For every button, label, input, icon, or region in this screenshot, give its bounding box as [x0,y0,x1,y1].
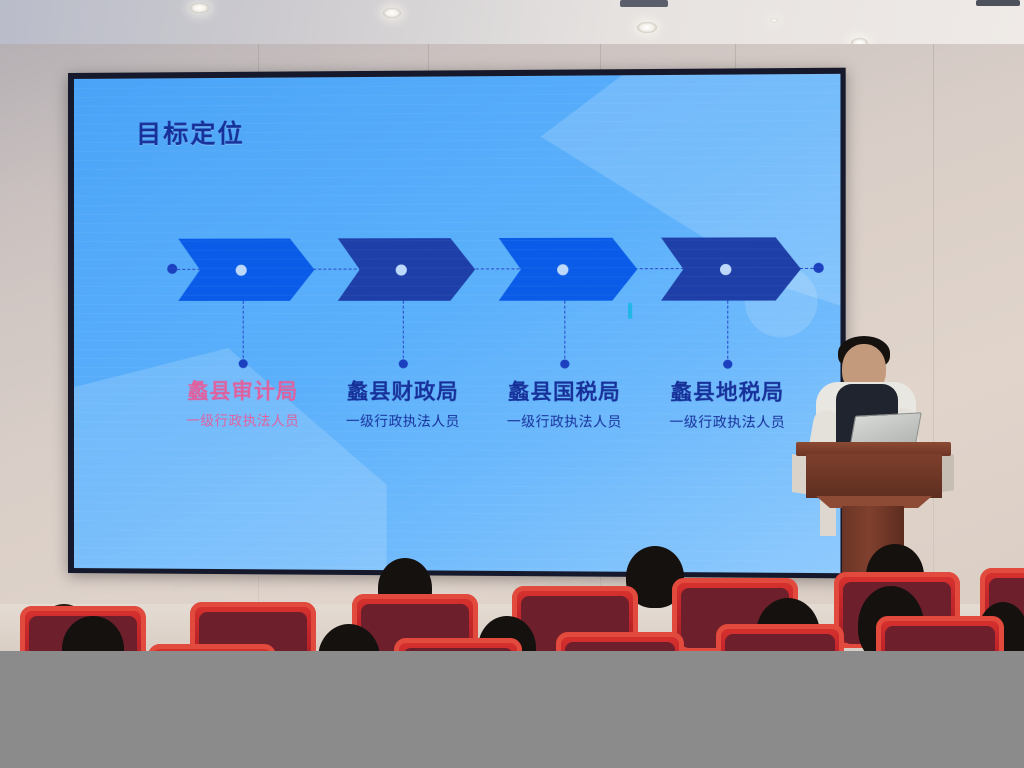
chevron-hole [557,264,568,275]
slide-title: 目标定位 [136,114,245,151]
timeline-dropline [564,301,565,364]
timeline-dropline [727,301,728,364]
timeline-drop-dot [239,359,248,368]
timeline-drop-dot [723,360,732,369]
timeline-drop-dot [399,359,408,368]
timeline-caption: 蠡县财政局 一级行政执法人员 [317,375,490,430]
timeline-sub-3: 一级行政执法人员 [477,410,652,431]
downlight-icon [770,18,778,23]
led-screen-bezel: 目标定位 蠡县审计局 一级行政执法人员 [68,68,846,579]
chevron-hole [235,264,246,275]
timeline-end-dot [813,263,823,273]
downlight-icon [637,22,657,33]
downlight-icon [190,3,209,13]
timeline-org-3: 蠡县国税局 [477,376,652,407]
bottom-gray-band [0,651,1024,768]
timeline-caption: 蠡县国税局 一级行政执法人员 [477,376,652,431]
timeline-tick-icon [628,303,632,319]
timeline-org-1: 蠡县审计局 [157,375,329,405]
ceiling-vent-icon [620,0,668,7]
timeline-dropline [403,301,404,364]
timeline-group: 蠡县审计局 一级行政执法人员 蠡县财政局 一级行政执法人员 [74,237,840,543]
ceiling-sensor-icon [976,0,1020,6]
chevron-hole [720,263,731,274]
timeline-sub-1: 一级行政执法人员 [157,409,329,430]
timeline-sub-2: 一级行政执法人员 [317,410,490,431]
timeline-org-2: 蠡县财政局 [317,375,490,406]
podium-body [806,454,942,498]
timeline-caption: 蠡县审计局 一级行政执法人员 [157,375,329,430]
timeline-dropline [243,301,244,363]
presentation-slide: 目标定位 蠡县审计局 一级行政执法人员 [74,74,840,573]
chevron-hole [395,264,406,275]
conference-hall-scene: 目标定位 蠡县审计局 一级行政执法人员 [0,0,1024,768]
downlight-icon [383,8,401,18]
timeline-start-dot [167,264,177,274]
timeline-drop-dot [560,359,569,368]
